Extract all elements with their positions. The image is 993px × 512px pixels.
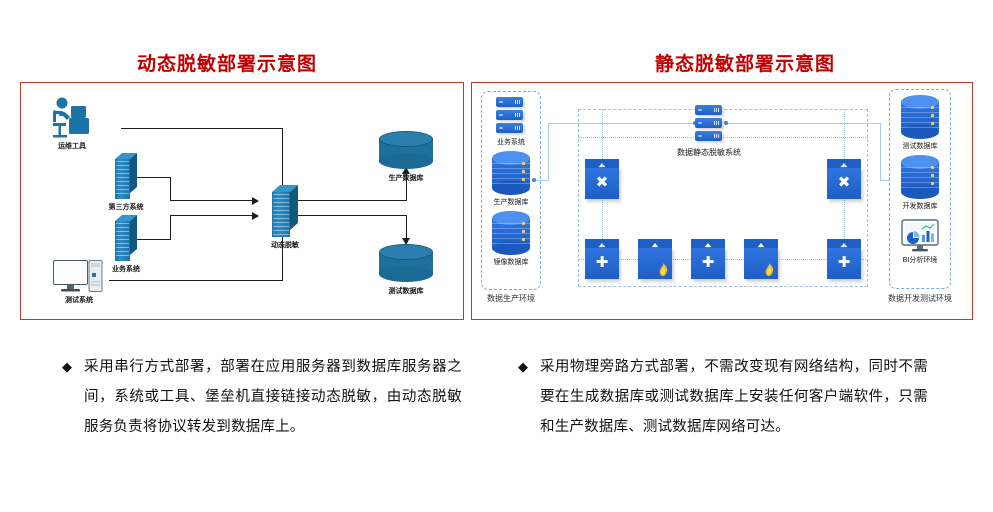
server-tower-icon-third-party bbox=[115, 153, 137, 199]
node-label-mirror-db: 镜像数据库 bbox=[494, 257, 529, 267]
node-label-test-db-right: 测试数据库 bbox=[903, 141, 938, 151]
database-cylinder-icon-prod-right bbox=[492, 151, 530, 195]
node-label-dev-db: 开发数据库 bbox=[903, 201, 938, 211]
link-ops-to-masking bbox=[121, 128, 283, 129]
node-label-business: 业务系统 bbox=[112, 264, 140, 274]
node-label-bi-env: BI分析环境 bbox=[903, 255, 938, 265]
router-glyph: ✚ bbox=[585, 249, 619, 277]
link-center-to-right bbox=[726, 123, 881, 124]
person-at-desk-icon bbox=[49, 97, 95, 141]
link-bus-to-center-left bbox=[548, 123, 695, 124]
link-masking-to-prod-db bbox=[297, 200, 407, 201]
description-left: ◆ 采用串行方式部署，部署在应用服务器到数据库服务器之间，系统或工具、堡垒机直接… bbox=[62, 352, 462, 442]
switch-icon-right: ✖ bbox=[827, 159, 861, 199]
node-label-prod-db-right: 生产数据库 bbox=[494, 197, 529, 207]
router-icon-mid: ✚ bbox=[691, 239, 725, 279]
link-business-h1 bbox=[136, 239, 171, 240]
link-third-party-h2 bbox=[170, 200, 253, 201]
database-cylinder-icon-devdb bbox=[901, 155, 939, 199]
flame-icon bbox=[659, 263, 668, 276]
node-label-test-system: 测试系统 bbox=[65, 295, 93, 305]
node-label-business-sys: 业务系统 bbox=[497, 137, 525, 147]
link-test-db-v bbox=[406, 215, 407, 240]
database-cylinder-icon-test bbox=[379, 244, 433, 282]
flame-icon bbox=[765, 263, 774, 276]
rack-server-icon-masking bbox=[695, 105, 725, 143]
switch-glyph: ✖ bbox=[585, 169, 619, 197]
node-label-dynamic-masking: 动态脱敏 bbox=[271, 240, 299, 250]
arrow-business-into-masking bbox=[252, 212, 259, 220]
router-icon-left: ✚ bbox=[585, 239, 619, 279]
switch-glyph: ✖ bbox=[827, 169, 861, 197]
node-label-prod-db: 生产数据库 bbox=[389, 173, 424, 183]
dynamic-masking-diagram: 运维工具 第三方系统 业务系统 测试系统 动态脱敏 生产数据库 bbox=[20, 82, 464, 320]
switch-icon-left: ✖ bbox=[585, 159, 619, 199]
link-third-party-h1 bbox=[136, 177, 171, 178]
server-tower-icon-business bbox=[115, 215, 137, 261]
link-third-party-v bbox=[170, 177, 171, 201]
node-label-masking-system: 数据静态脱敏系统 bbox=[677, 147, 741, 158]
bi-monitor-icon bbox=[901, 219, 939, 251]
link-prod-to-bus-v bbox=[548, 123, 549, 181]
desktop-pc-icon bbox=[53, 260, 109, 294]
router-glyph: ✚ bbox=[827, 249, 861, 277]
static-masking-diagram: 数据生产环境 业务系统 生产数据库 镜像数据库 ✖ ✖ ✚ bbox=[471, 82, 973, 320]
firewall-icon-right bbox=[744, 239, 778, 279]
link-business-h2 bbox=[170, 215, 253, 216]
router-glyph: ✚ bbox=[691, 249, 725, 277]
link-dot-prod bbox=[532, 178, 536, 182]
node-label-ops-tool: 运维工具 bbox=[58, 141, 86, 151]
arrow-third-party-into-masking bbox=[252, 197, 259, 205]
env-label-devtest: 数据开发测试环境 bbox=[888, 293, 952, 304]
bullet-marker-left: ◆ bbox=[62, 352, 72, 442]
firewall-icon-left bbox=[638, 239, 672, 279]
page-title-right: 静态脱敏部署示意图 bbox=[655, 49, 835, 76]
database-cylinder-icon-mirror bbox=[492, 211, 530, 255]
description-text-left: 采用串行方式部署，部署在应用服务器到数据库服务器之间，系统或工具、堡垒机直接链接… bbox=[84, 352, 462, 442]
description-text-right: 采用物理旁路方式部署，不需改变现有网络结构，同时不需要在生成数据库或测试数据库上… bbox=[540, 352, 928, 442]
description-right: ◆ 采用物理旁路方式部署，不需改变现有网络结构，同时不需要在生成数据库或测试数据… bbox=[518, 352, 928, 442]
link-test-system-h bbox=[109, 280, 283, 281]
link-masking-to-test-db bbox=[297, 215, 407, 216]
page-title-left: 动态脱敏部署示意图 bbox=[137, 49, 317, 76]
link-ops-down bbox=[282, 128, 283, 190]
database-cylinder-icon-prod bbox=[379, 131, 433, 169]
node-label-test-db: 测试数据库 bbox=[389, 286, 424, 296]
link-prod-to-bus-h bbox=[535, 180, 549, 181]
rack-server-icon-business bbox=[496, 97, 526, 135]
node-label-third-party: 第三方系统 bbox=[109, 202, 144, 212]
link-right-v bbox=[880, 123, 881, 181]
env-label-production: 数据生产环境 bbox=[487, 293, 535, 304]
server-tower-icon-dynamic-masking bbox=[272, 185, 298, 237]
bullet-marker-right: ◆ bbox=[518, 352, 528, 442]
database-cylinder-icon-testdb bbox=[901, 95, 939, 139]
link-business-v bbox=[170, 216, 171, 240]
router-icon-right: ✚ bbox=[827, 239, 861, 279]
